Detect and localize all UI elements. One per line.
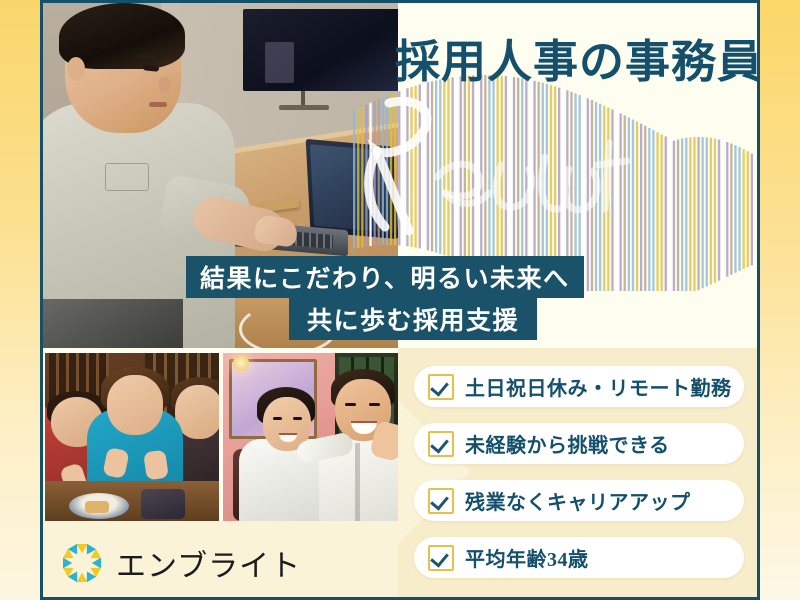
feature-label: 未経験から挑戦できる bbox=[465, 429, 670, 458]
poster-canvas: 採用人事の事務員 結果にこだわり、明るい未来へ 共に歩む採用支援 bbox=[43, 3, 757, 597]
top-rule bbox=[40, 0, 760, 3]
feature-item-0[interactable]: 土日祝日休み・リモート勤務 bbox=[414, 366, 744, 407]
checkbox-icon bbox=[428, 374, 454, 400]
checkbox-icon bbox=[428, 431, 454, 457]
tagline-line-2: 共に歩む採用支援 bbox=[289, 298, 537, 340]
page-title: 採用人事の事務員 bbox=[395, 25, 757, 90]
recruitment-poster: 採用人事の事務員 結果にこだわり、明るい未来へ 共に歩む採用支援 bbox=[0, 0, 800, 600]
right-frame-gradient bbox=[758, 0, 800, 600]
feature-label: 残業なくキャリアアップ bbox=[465, 486, 691, 515]
brand-name: エンブライト bbox=[116, 541, 301, 585]
feature-label: 土日祝日休み・リモート勤務 bbox=[465, 372, 732, 401]
feature-item-1[interactable]: 未経験から挑戦できる bbox=[414, 423, 744, 464]
features-panel: 土日祝日休み・リモート勤務 未経験から挑戦できる 残業なくキャリアアップ 平均年… bbox=[398, 348, 757, 597]
feature-item-3[interactable]: 平均年齢34歳 bbox=[414, 537, 744, 578]
checkbox-icon bbox=[428, 545, 454, 571]
tagline-line-1: 結果にこだわり、明るい未来へ bbox=[186, 256, 584, 298]
left-frame-gradient bbox=[0, 0, 42, 600]
feature-label: 平均年齢34歳 bbox=[465, 543, 589, 572]
feature-item-2[interactable]: 残業なくキャリアアップ bbox=[414, 480, 744, 521]
hexagon-triangles-icon bbox=[59, 540, 105, 586]
three-women-group-photo bbox=[45, 353, 219, 521]
two-men-group-photo bbox=[223, 353, 398, 521]
checkbox-icon bbox=[428, 488, 454, 514]
brand-logo[interactable]: エンブライト bbox=[59, 540, 301, 586]
